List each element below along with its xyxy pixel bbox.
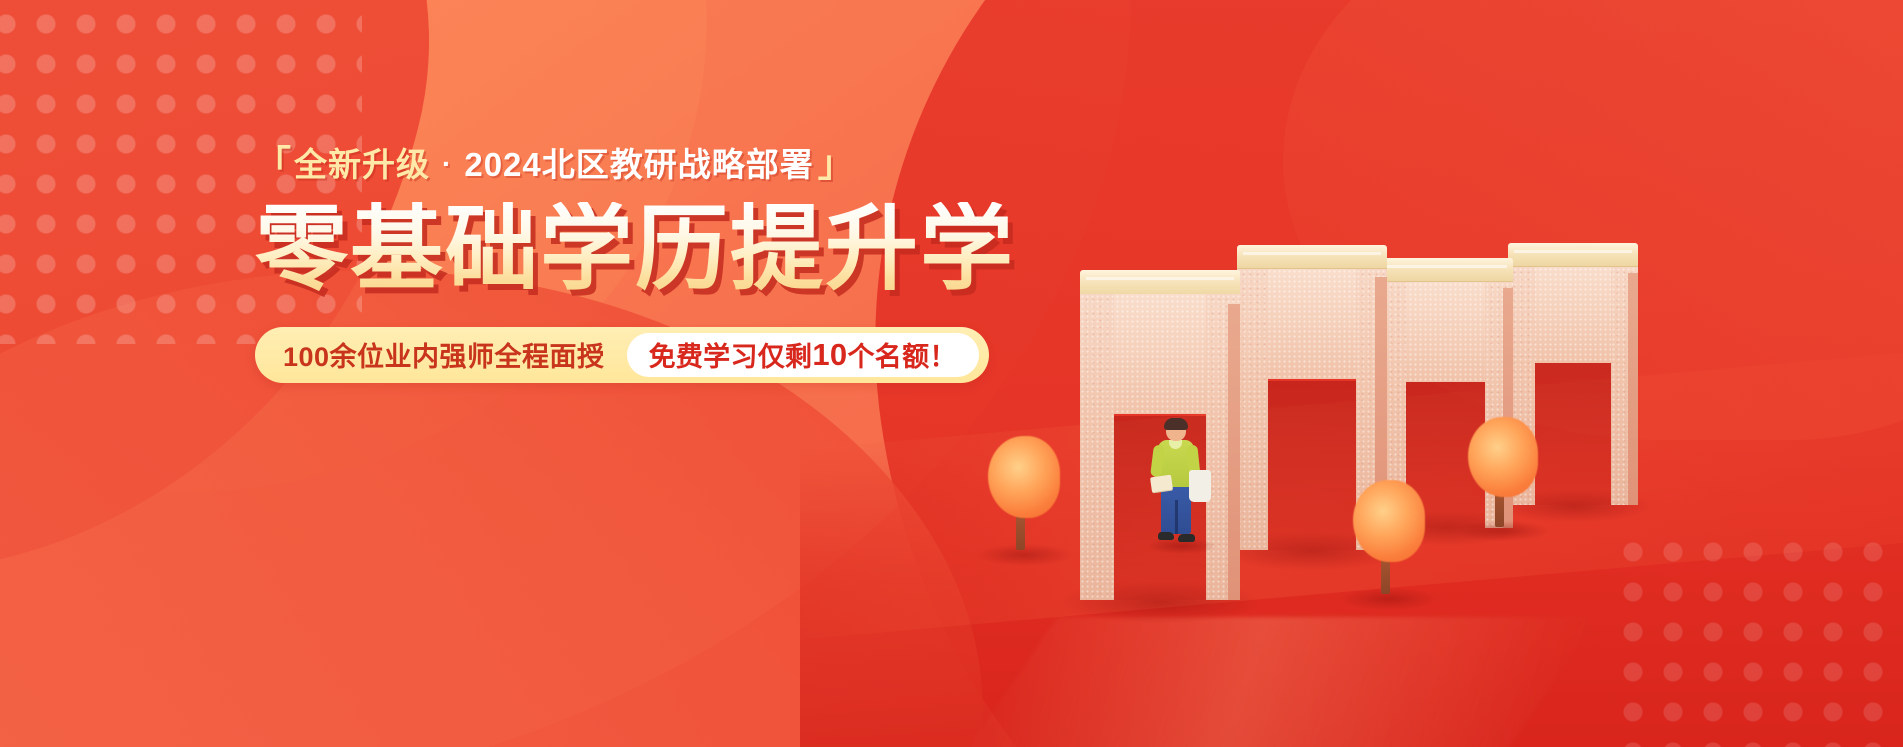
tree-canopy (1468, 417, 1538, 497)
pill-left-label: 100余位业内强师全程面授 (283, 335, 627, 374)
tree-canopy (1353, 480, 1425, 562)
banner-copy: 「 全新升级 · 2024北区教研战略部署 」 零基础学历提升学霸班 100余位… (255, 146, 1015, 383)
arch-side-face (1228, 304, 1240, 600)
figure-shoe-right (1178, 534, 1195, 542)
banner-kicker: 「 全新升级 · 2024北区教研战略部署 」 (255, 146, 1015, 182)
tree-left (980, 432, 1070, 562)
kicker-separator: · (442, 150, 452, 178)
book-page-top (1237, 245, 1387, 271)
arch-side-face (1628, 273, 1638, 505)
book-arch-illustration (960, 0, 1903, 747)
figure-hair (1164, 418, 1188, 430)
figure-leg-split (1175, 500, 1178, 534)
tree-mid (1345, 478, 1435, 608)
figure-held-book (1150, 475, 1173, 493)
kicker-white-text: 2024北区教研战略部署 (464, 148, 813, 181)
arch-inner-shadow (1268, 381, 1356, 550)
kicker-gold-text: 全新升级 (294, 148, 430, 181)
figure-tote-bag (1189, 470, 1211, 502)
student-figure (1145, 420, 1215, 550)
banner-headline: 零基础学历提升学霸班 (255, 202, 1015, 297)
promo-banner: 「 全新升级 · 2024北区教研战略部署 」 零基础学历提升学霸班 100余位… (0, 0, 1903, 747)
tree-canopy (988, 436, 1060, 518)
book-page-top (1378, 258, 1513, 284)
kicker-bracket-close: 」 (818, 146, 855, 182)
banner-pill-row: 100余位业内强师全程面授 免费学习仅剩 10 个名额！ (255, 327, 989, 383)
arch-leg-left (1080, 294, 1114, 600)
arch-leg-left (1237, 269, 1268, 550)
pill-right-badge: 免费学习仅剩 10 个名额！ (627, 333, 979, 377)
badge-seat-count: 10 (812, 337, 847, 373)
tree-right (1460, 415, 1548, 541)
badge-prefix: 免费学习仅剩 (649, 335, 813, 374)
kicker-bracket-open: 「 (255, 146, 292, 182)
book-page-top (1508, 243, 1638, 269)
figure-shoe-left (1158, 532, 1174, 540)
badge-suffix: 个名额！ (847, 335, 956, 374)
